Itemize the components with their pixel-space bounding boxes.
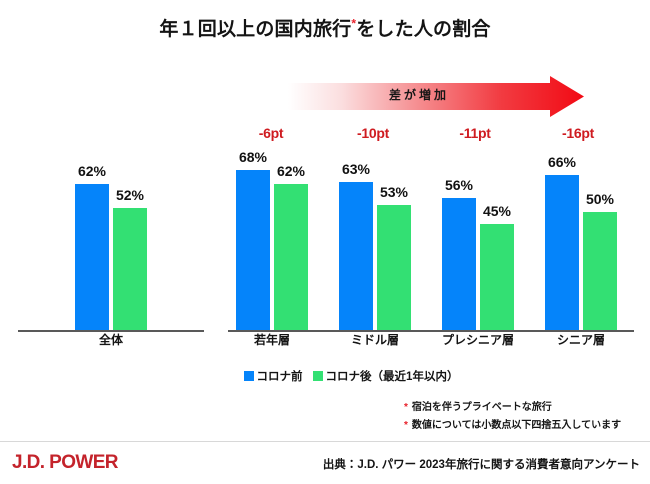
bar-youth-pre[interactable] — [236, 170, 270, 330]
source-note: 出典：J.D. パワー 2023年旅行に関する消費者意向アンケート — [323, 456, 640, 472]
footnote-asterisk-icon-2: * — [404, 417, 408, 435]
brand-logo: J.D. POWER — [12, 452, 118, 474]
delta-label-youth: -6pt — [231, 125, 311, 141]
bar-wrap-presenior-post: 45% — [480, 168, 514, 330]
bar-wrap-middle-post: 53% — [377, 168, 411, 330]
footnote-text-2: 数値については小数点以下四捨五入しています — [412, 417, 621, 435]
delta-label-presenior: -11pt — [435, 125, 515, 141]
bar-youth-post[interactable] — [274, 184, 308, 330]
title-text-after: をした人の割合 — [356, 19, 490, 40]
bar-group-senior: 66% 50% シニア層 — [537, 168, 625, 330]
chart-panel-overall: 62% 52% 全体 — [18, 150, 204, 350]
bar-value-youth-post: 62% — [264, 163, 318, 179]
bar-group-middle: 63% 53% ミドル層 — [331, 168, 419, 330]
chart-panel-segments: 68% 62% 若年層 63% 53% ミドル層 56% — [228, 150, 634, 350]
bar-wrap-youth-pre: 68% — [236, 168, 270, 330]
bar-value-middle-post: 53% — [367, 184, 421, 200]
bar-wrap-presenior-pre: 56% — [442, 168, 476, 330]
bar-overall-pre[interactable] — [75, 184, 109, 330]
bar-pair-presenior: 56% 45% — [434, 168, 522, 330]
delta-label-middle: -10pt — [333, 125, 413, 141]
bar-value-overall-post: 52% — [103, 187, 157, 203]
legend-swatch-icon-post — [313, 371, 323, 381]
legend-item-post[interactable]: コロナ後（最近1年以内） — [313, 368, 459, 384]
bar-middle-pre[interactable] — [339, 182, 373, 330]
bar-value-senior-post: 50% — [573, 191, 627, 207]
category-label-presenior: プレシニア層 — [434, 331, 522, 348]
bar-pair-youth: 68% 62% — [228, 168, 316, 330]
bar-group-overall: 62% 52% 全体 — [32, 168, 190, 330]
footnote-asterisk-icon-1: * — [404, 399, 408, 417]
category-label-overall: 全体 — [32, 331, 190, 348]
bar-value-presenior-post: 45% — [470, 203, 524, 219]
footnote-2: * 数値については小数点以下四捨五入しています — [404, 417, 644, 435]
trend-arrow-label: 差が増加 — [288, 86, 550, 103]
bar-value-presenior-pre: 56% — [432, 177, 486, 193]
bar-group-youth: 68% 62% 若年層 — [228, 168, 316, 330]
bar-senior-post[interactable] — [583, 212, 617, 330]
chart-legend: コロナ前 コロナ後（最近1年以内） — [228, 368, 474, 384]
footnotes: * 宿泊を伴うプライベートな旅行 * 数値については小数点以下四捨五入しています — [404, 399, 644, 435]
delta-label-senior: -16pt — [538, 125, 618, 141]
bar-group-presenior: 56% 45% プレシニア層 — [434, 168, 522, 330]
bar-overall-post[interactable] — [113, 208, 147, 330]
bar-wrap-senior-post: 50% — [583, 168, 617, 330]
bar-pair-senior: 66% 50% — [537, 168, 625, 330]
delta-labels-row: -6pt -10pt -11pt -16pt — [228, 125, 634, 143]
legend-label-pre: コロナ前 — [257, 368, 303, 384]
footnote-1: * 宿泊を伴うプライベートな旅行 — [404, 399, 644, 417]
bar-middle-post[interactable] — [377, 205, 411, 330]
category-label-youth: 若年層 — [228, 331, 316, 348]
bar-value-senior-pre: 66% — [535, 154, 589, 170]
bar-value-middle-pre: 63% — [329, 161, 383, 177]
bar-value-overall-pre: 62% — [65, 163, 119, 179]
bar-pair-overall: 62% 52% — [32, 168, 190, 330]
legend-swatch-icon-pre — [244, 371, 254, 381]
category-label-middle: ミドル層 — [331, 331, 419, 348]
title-text-before: 年１回以上の国内旅行 — [159, 19, 351, 40]
page-title: 年１回以上の国内旅行*をした人の割合 — [0, 14, 650, 41]
footnote-text-1: 宿泊を伴うプライベートな旅行 — [412, 399, 552, 417]
bar-wrap-overall-post: 52% — [113, 168, 147, 330]
bar-presenior-post[interactable] — [480, 224, 514, 330]
bar-pair-middle: 63% 53% — [331, 168, 419, 330]
footer-divider — [0, 441, 650, 442]
bar-wrap-youth-post: 62% — [274, 168, 308, 330]
legend-label-post: コロナ後（最近1年以内） — [326, 368, 459, 384]
legend-item-pre[interactable]: コロナ前 — [244, 368, 303, 384]
category-label-senior: シニア層 — [537, 331, 625, 348]
